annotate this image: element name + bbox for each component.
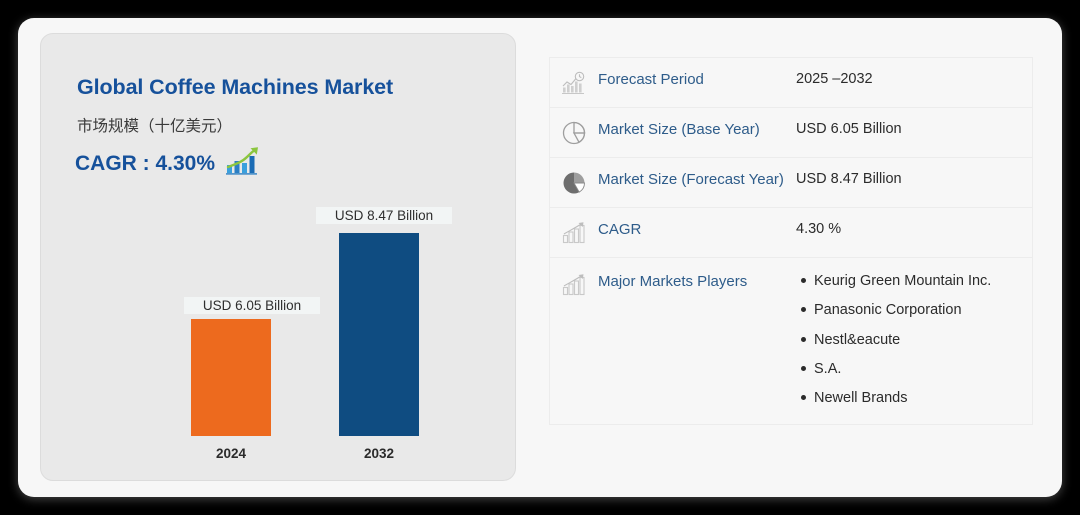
row-value: USD 6.05 Billion xyxy=(796,119,1032,140)
table-row-major-players: Major Markets Players Keurig Green Mount… xyxy=(550,258,1032,425)
row-label: Market Size (Forecast Year) xyxy=(598,169,796,191)
page-sheet: Global Coffee Machines Market 市场规模（十亿美元）… xyxy=(18,18,1062,497)
list-item: S.A. xyxy=(814,359,1022,379)
bar-category-label-2032: 2032 xyxy=(339,446,419,461)
row-value: 4.30 % xyxy=(796,219,1032,240)
table-row: Market Size (Forecast Year) USD 8.47 Bil… xyxy=(550,158,1032,208)
table-row: CAGR 4.30 % xyxy=(550,208,1032,258)
list-item: Panasonic Corporation xyxy=(814,300,1022,320)
bar-2032 xyxy=(339,233,419,436)
row-label: Market Size (Base Year) xyxy=(598,119,796,141)
row-value: USD 8.47 Billion xyxy=(796,169,1032,190)
row-label: Major Markets Players xyxy=(598,271,796,293)
major-players-list-cell: Keurig Green Mountain Inc. Panasonic Cor… xyxy=(796,271,1032,408)
chart-card: Global Coffee Machines Market 市场规模（十亿美元）… xyxy=(40,33,516,481)
bar-category-label-2024: 2024 xyxy=(191,446,271,461)
table-row: Forecast Period 2025 –2032 xyxy=(550,58,1032,108)
pie-chart-outline-icon xyxy=(550,119,598,146)
list-item: Nestl&eacute xyxy=(814,330,1022,350)
bar-chart-plot: USD 6.05 Billion 2024 USD 8.47 Billion 2… xyxy=(41,34,517,482)
row-value: 2025 –2032 xyxy=(796,69,1032,90)
table-row: Market Size (Base Year) USD 6.05 Billion xyxy=(550,108,1032,158)
major-players-list: Keurig Green Mountain Inc. Panasonic Cor… xyxy=(796,271,1022,408)
row-label: CAGR xyxy=(598,219,796,241)
list-item: Newell Brands xyxy=(814,388,1022,408)
bar-value-label-2032: USD 8.47 Billion xyxy=(316,207,452,224)
growth-bars-icon xyxy=(550,219,598,246)
row-label: Forecast Period xyxy=(598,69,796,91)
bar-value-label-2024: USD 6.05 Billion xyxy=(184,297,320,314)
growth-bars-icon xyxy=(550,271,598,298)
forecast-chart-clock-icon xyxy=(550,69,598,96)
market-summary-table: Forecast Period 2025 –2032 Market Size (… xyxy=(549,57,1033,425)
pie-chart-filled-icon xyxy=(550,169,598,196)
bar-2024 xyxy=(191,319,271,436)
list-item: Keurig Green Mountain Inc. xyxy=(814,271,1022,291)
